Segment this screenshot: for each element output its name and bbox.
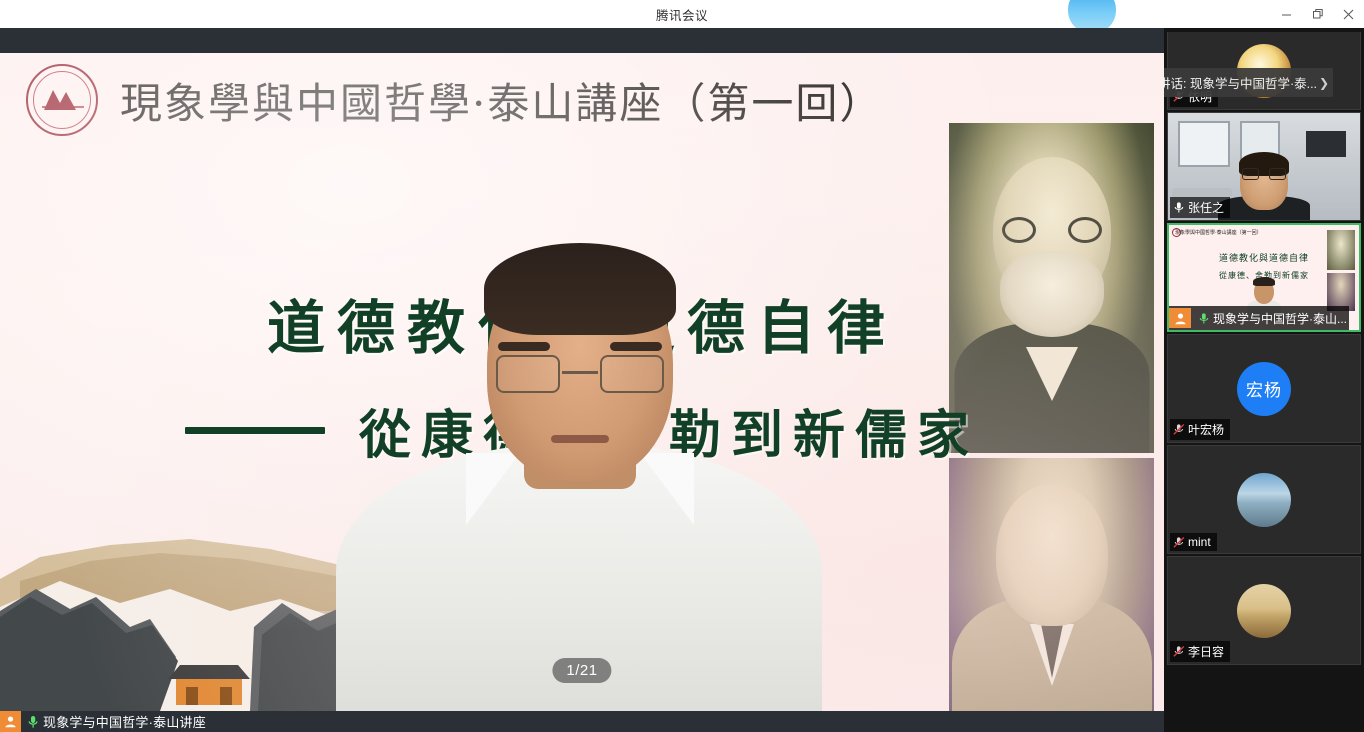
participant-tile[interactable]: 张任之	[1167, 112, 1361, 221]
participant-name-badge: mint	[1170, 533, 1217, 551]
participant-glasses-icon	[1242, 168, 1286, 180]
speaker-glasses-icon	[496, 355, 664, 395]
shared-screen-stage[interactable]: 現象學與中國哲學·泰山講座（第一回） 道德教化與道德自律 從康德、舍勒到新	[0, 53, 1164, 711]
meeting-timer-text: 00:00	[1068, 0, 1116, 3]
participant-name-badge: 张任之	[1170, 197, 1230, 218]
participant-name-badge: 李日容	[1170, 641, 1230, 662]
speaker-brow-left	[498, 342, 550, 351]
mic-muted-icon	[1173, 645, 1185, 658]
page-indicator: 1/21	[552, 658, 611, 683]
window-title: 腾讯会议	[656, 5, 708, 24]
room-window	[1178, 121, 1230, 167]
active-speaker-bar: 现象学与中国哲学·泰山讲座	[0, 711, 1164, 732]
maximize-restore-button[interactable]	[1302, 0, 1333, 28]
thumb-header-text: 現象學與中國哲學·泰山講座（第一回）	[1175, 229, 1262, 236]
microphone-icon	[27, 715, 39, 729]
mic-muted-icon	[1173, 536, 1185, 549]
slide-header: 現象學與中國哲學·泰山講座（第一回）	[26, 64, 883, 136]
restore-icon	[1312, 8, 1324, 20]
host-icon	[1169, 308, 1191, 328]
window-controls	[1271, 0, 1364, 28]
participant-tile[interactable]: 宏杨 叶宏杨	[1167, 334, 1361, 443]
presentation-slide: 現象學與中國哲學·泰山講座（第一回） 道德教化與道德自律 從康德、舍勒到新	[0, 53, 1164, 711]
speaking-tooltip: 讲话: 现象学与中国哲学·泰... ❯	[1164, 68, 1333, 97]
title-bar: 腾讯会议 00:00	[0, 0, 1364, 28]
minimize-button[interactable]	[1271, 0, 1302, 28]
participant-tile[interactable]: mint	[1167, 445, 1361, 554]
active-speaker-name: 现象学与中国哲学·泰山讲座	[43, 712, 206, 731]
participant-name: 现象学与中国哲学·泰山...	[1213, 310, 1347, 327]
participant-name: 张任之	[1188, 199, 1224, 216]
mic-on-icon	[27, 715, 39, 729]
thumb-title: 道德教化與道德自律	[1169, 251, 1359, 264]
speaker-collar-left	[466, 453, 520, 525]
avatar	[1237, 473, 1291, 527]
speaker-hair	[484, 243, 676, 335]
shandong-university-logo-icon	[26, 64, 98, 136]
thumb-husserl-portrait	[1327, 230, 1355, 270]
room-tv	[1306, 131, 1346, 157]
avatar	[1237, 584, 1291, 638]
speaker-collar-right	[640, 453, 694, 525]
toolbar-strip	[0, 28, 1164, 53]
mic-muted-icon	[1173, 423, 1185, 436]
scheler-portrait	[949, 458, 1154, 711]
scheler-head	[996, 484, 1108, 626]
participant-tile[interactable]: 李日容	[1167, 556, 1361, 665]
host-icon	[0, 711, 21, 732]
close-icon	[1343, 9, 1354, 20]
tencent-meeting-window: 腾讯会议 00:00	[0, 0, 1364, 732]
mountain-emblem-icon	[40, 86, 86, 112]
participant-name: 李日容	[1188, 643, 1224, 660]
avatar: 宏杨	[1237, 362, 1291, 416]
participant-name: mint	[1188, 535, 1211, 549]
participant-name-badge: 叶宏杨	[1170, 419, 1230, 440]
mic-on-icon	[1173, 201, 1185, 214]
participant-name-badge: 现象学与中国哲学·泰山...	[1169, 306, 1349, 330]
participant-name: 叶宏杨	[1188, 421, 1224, 438]
speaker-video-overlay	[300, 291, 860, 711]
chevron-right-icon: ❯	[1319, 76, 1329, 90]
participant-tile-screenshare[interactable]: 現象學與中國哲學·泰山講座（第一回） 道德教化與道德自律 從康德、舍勒到新儒家	[1167, 223, 1361, 332]
speaking-tooltip-text: 讲话: 现象学与中国哲学·泰...	[1164, 77, 1317, 91]
close-button[interactable]	[1333, 0, 1364, 28]
husserl-glasses-icon	[998, 217, 1106, 243]
participant-rail[interactable]: 依明 张任之	[1164, 28, 1364, 732]
person-icon	[4, 715, 17, 728]
minimize-icon	[1281, 9, 1292, 20]
person-icon	[1174, 312, 1187, 325]
speaker-mouth	[551, 435, 609, 443]
scheler-tie	[1041, 624, 1063, 678]
slide-header-text: 現象學與中國哲學·泰山講座（第一回）	[120, 70, 883, 131]
mic-on-icon	[1198, 312, 1210, 325]
speaker-brow-right	[610, 342, 662, 351]
